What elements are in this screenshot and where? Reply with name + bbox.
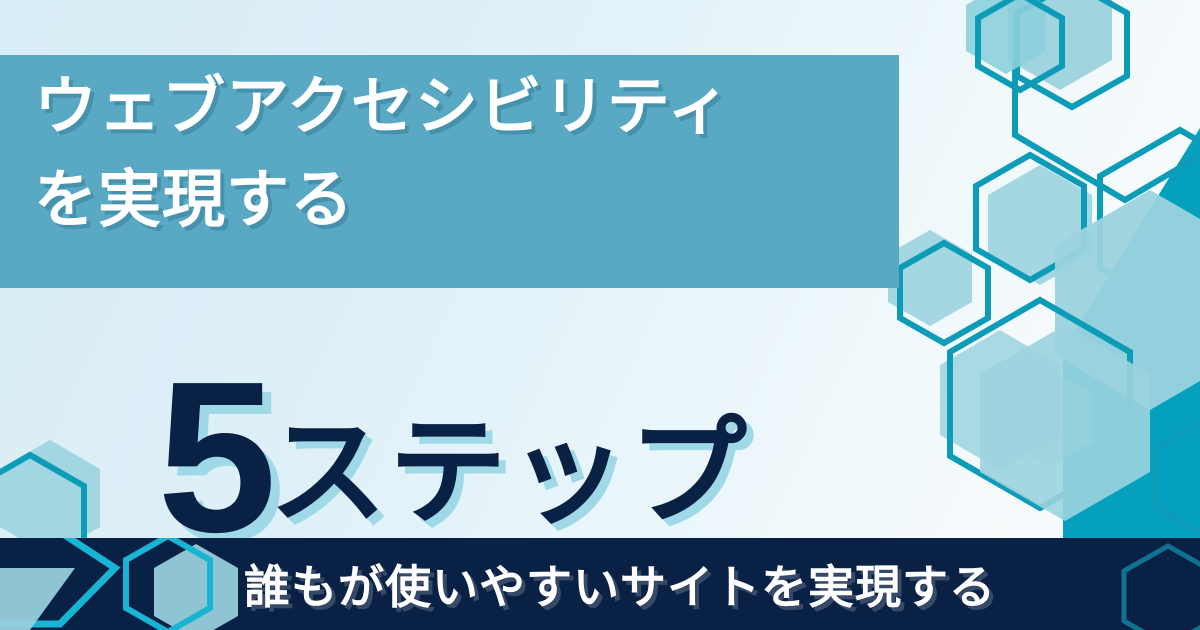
step-count-number: 5 <box>157 365 273 550</box>
heading-banner: ウェブアクセシビリティ を実現する <box>0 55 899 288</box>
footer-subtitle: 誰もが使いやすいサイトを実現する <box>0 551 1200 617</box>
footer-bar: 誰もが使いやすいサイトを実現する <box>0 538 1200 630</box>
banner-canvas: ウェブアクセシビリティ を実現する 5 ステップ 誰もが使いやすいサイトを実現す… <box>0 0 1200 630</box>
heading-text: ウェブアクセシビリティ を実現する <box>34 61 894 247</box>
steps-headline: 5 ステップ <box>0 318 900 538</box>
step-unit-label: ステップ <box>269 416 749 532</box>
